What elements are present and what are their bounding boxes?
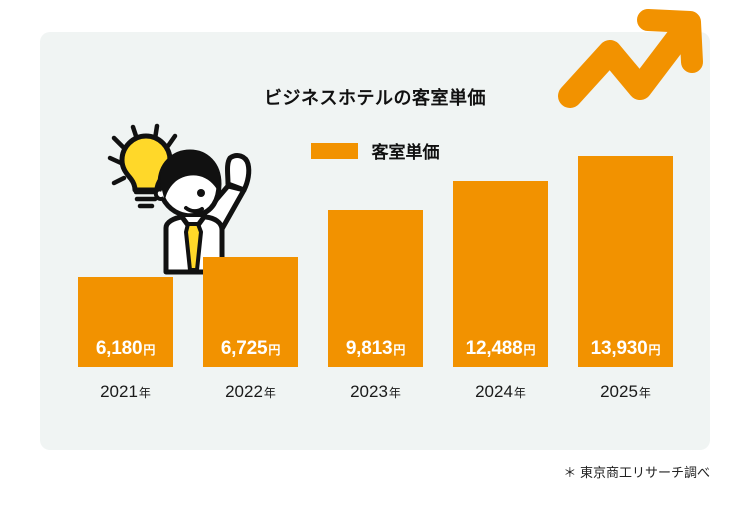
upward-trend-arrow-icon [556, 8, 708, 112]
bar-value-number: 9,813 [346, 338, 393, 359]
category-label-2021: 2021年 [68, 382, 183, 402]
bar-group: 9,813円 2023年 [328, 142, 423, 410]
bar-value-unit: 円 [524, 343, 536, 357]
bar-group: 6,725円 2022年 [203, 142, 298, 410]
bar-value-number: 12,488 [466, 338, 523, 359]
category-year: 2023 [350, 382, 388, 401]
source-note: ＊ 東京商工リサーチ調べ [0, 462, 710, 481]
category-unit: 年 [514, 386, 526, 400]
bar-value-label: 13,930円 [578, 338, 673, 360]
category-label-2024: 2024年 [443, 382, 558, 402]
chart-stage: ビジネスホテルの客室単価 客室単価 [0, 0, 750, 514]
bar-2025[interactable] [578, 156, 673, 367]
category-label-2025: 2025年 [568, 382, 683, 402]
category-year: 2022 [225, 382, 263, 401]
bar-group: 12,488円 2024年 [453, 142, 548, 410]
bar-value-label: 9,813円 [328, 338, 423, 360]
category-unit: 年 [389, 386, 401, 400]
bar-value-number: 6,180 [96, 338, 143, 359]
bar-chart-plot: 6,180円 2021年 6,725円 2022年 9,813円 2023年 1… [78, 142, 688, 410]
category-unit: 年 [639, 386, 651, 400]
bar-value-unit: 円 [393, 343, 405, 357]
category-label-2022: 2022年 [193, 382, 308, 402]
bar-value-label: 12,488円 [453, 338, 548, 360]
bar-value-number: 13,930 [591, 338, 648, 359]
bar-group: 6,180円 2021年 [78, 142, 173, 410]
bar-value-label: 6,725円 [203, 338, 298, 360]
category-year: 2025 [600, 382, 638, 401]
category-year: 2024 [475, 382, 513, 401]
category-year: 2021 [100, 382, 138, 401]
bar-value-unit: 円 [268, 343, 280, 357]
bar-value-number: 6,725 [221, 338, 268, 359]
bar-value-label: 6,180円 [78, 338, 173, 360]
bar-value-unit: 円 [649, 343, 661, 357]
bar-group: 13,930円 2025年 [578, 142, 673, 410]
bar-value-unit: 円 [143, 343, 155, 357]
category-unit: 年 [139, 386, 151, 400]
category-unit: 年 [264, 386, 276, 400]
category-label-2023: 2023年 [318, 382, 433, 402]
